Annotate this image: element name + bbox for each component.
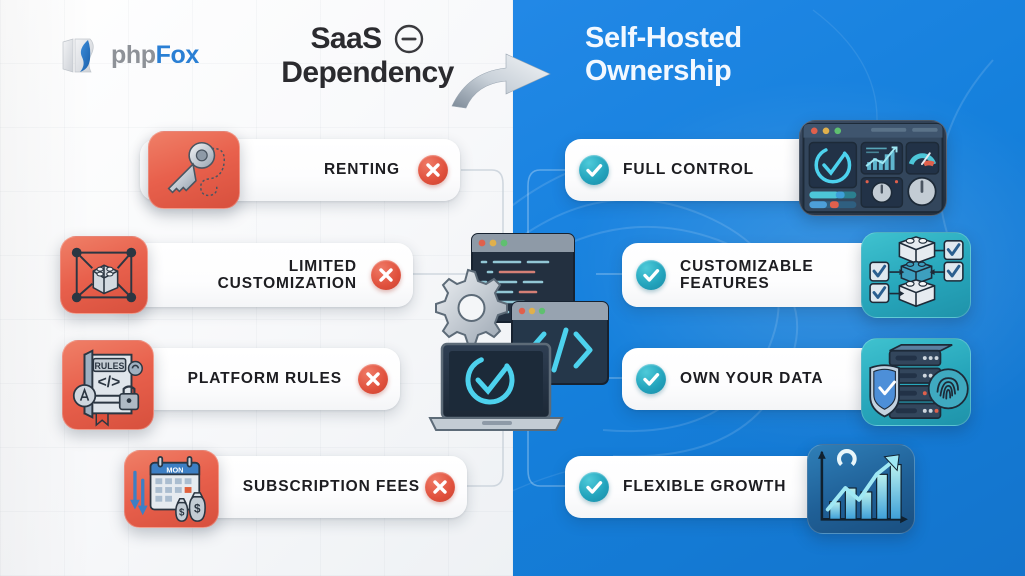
rules-book-lock-icon: RULES </>: [62, 340, 154, 430]
svg-text:RULES: RULES: [95, 361, 125, 371]
curved-arrow-icon: [450, 48, 565, 110]
left-title-line1: SaaS: [311, 22, 382, 56]
logo-text-fox: Fox: [156, 41, 199, 69]
left-item-platform-rules[interactable]: PLATFORM RULES: [140, 348, 400, 410]
left-item-limited-customization-label: LIMITED CUSTOMIZATION: [218, 258, 357, 293]
x-circle-icon: [358, 364, 388, 394]
left-item-renting-label: RENTING: [324, 161, 400, 178]
brand-logo-text: phpFox: [111, 43, 199, 68]
server-shield-fingerprint-icon: [861, 338, 971, 426]
right-title-line2: Ownership: [585, 55, 875, 88]
svg-text:MON: MON: [166, 465, 183, 474]
infographic-stage: phpFox SaaS Dependency Self-Hosted O: [0, 0, 1025, 576]
x-circle-icon: [418, 155, 448, 185]
right-item-full-control-label: FULL CONTROL: [623, 161, 754, 178]
left-item-platform-rules-label: PLATFORM RULES: [188, 370, 342, 387]
check-circle-icon: [636, 260, 666, 290]
phpfox-logo-icon: [58, 33, 103, 78]
left-item-subscription-fees-label: SUBSCRIPTION FEES: [243, 478, 420, 495]
right-panel-title: Self-Hosted Ownership: [585, 22, 875, 89]
gear-icon: [436, 270, 507, 344]
laptop-check-icon: [430, 344, 562, 430]
building-blocks-icon: [861, 232, 971, 318]
dashboard-panel-icon: [799, 120, 947, 216]
label-line-1: LIMITED: [289, 258, 357, 275]
label-line-1: CUSTOMIZABLE: [680, 258, 814, 275]
left-item-limited-customization[interactable]: LIMITED CUSTOMIZATION: [113, 243, 413, 307]
svg-text:</>: </>: [98, 374, 121, 391]
infinity-growth-chart-icon: [807, 444, 915, 534]
minus-circle-icon: [393, 23, 425, 55]
x-circle-icon: [371, 260, 401, 290]
label-line-2: CUSTOMIZATION: [218, 275, 357, 292]
right-item-customizable-features-label: CUSTOMIZABLE FEATURES: [680, 258, 814, 293]
brand-logo[interactable]: phpFox: [58, 33, 199, 78]
check-circle-icon: [579, 472, 609, 502]
label-line-2: FEATURES: [680, 275, 770, 292]
svg-text:$: $: [194, 502, 201, 515]
left-item-limited-customization-pill[interactable]: LIMITED CUSTOMIZATION: [113, 243, 413, 307]
key-ring-icon: [148, 131, 240, 209]
right-item-flexible-growth-label: FLEXIBLE GROWTH: [623, 478, 786, 495]
x-circle-icon: [425, 472, 455, 502]
left-item-platform-rules-pill[interactable]: PLATFORM RULES: [140, 348, 400, 410]
calendar-money-icon: MON $ $: [124, 450, 219, 528]
center-illustration: [424, 222, 612, 440]
right-item-own-your-data-label: OWN YOUR DATA: [680, 370, 823, 387]
logo-text-php: php: [111, 41, 156, 69]
right-title-line1: Self-Hosted: [585, 22, 875, 55]
check-circle-icon: [579, 155, 609, 185]
constrained-block-icon: [60, 236, 148, 314]
check-circle-icon: [636, 364, 666, 394]
svg-text:$: $: [179, 507, 185, 518]
